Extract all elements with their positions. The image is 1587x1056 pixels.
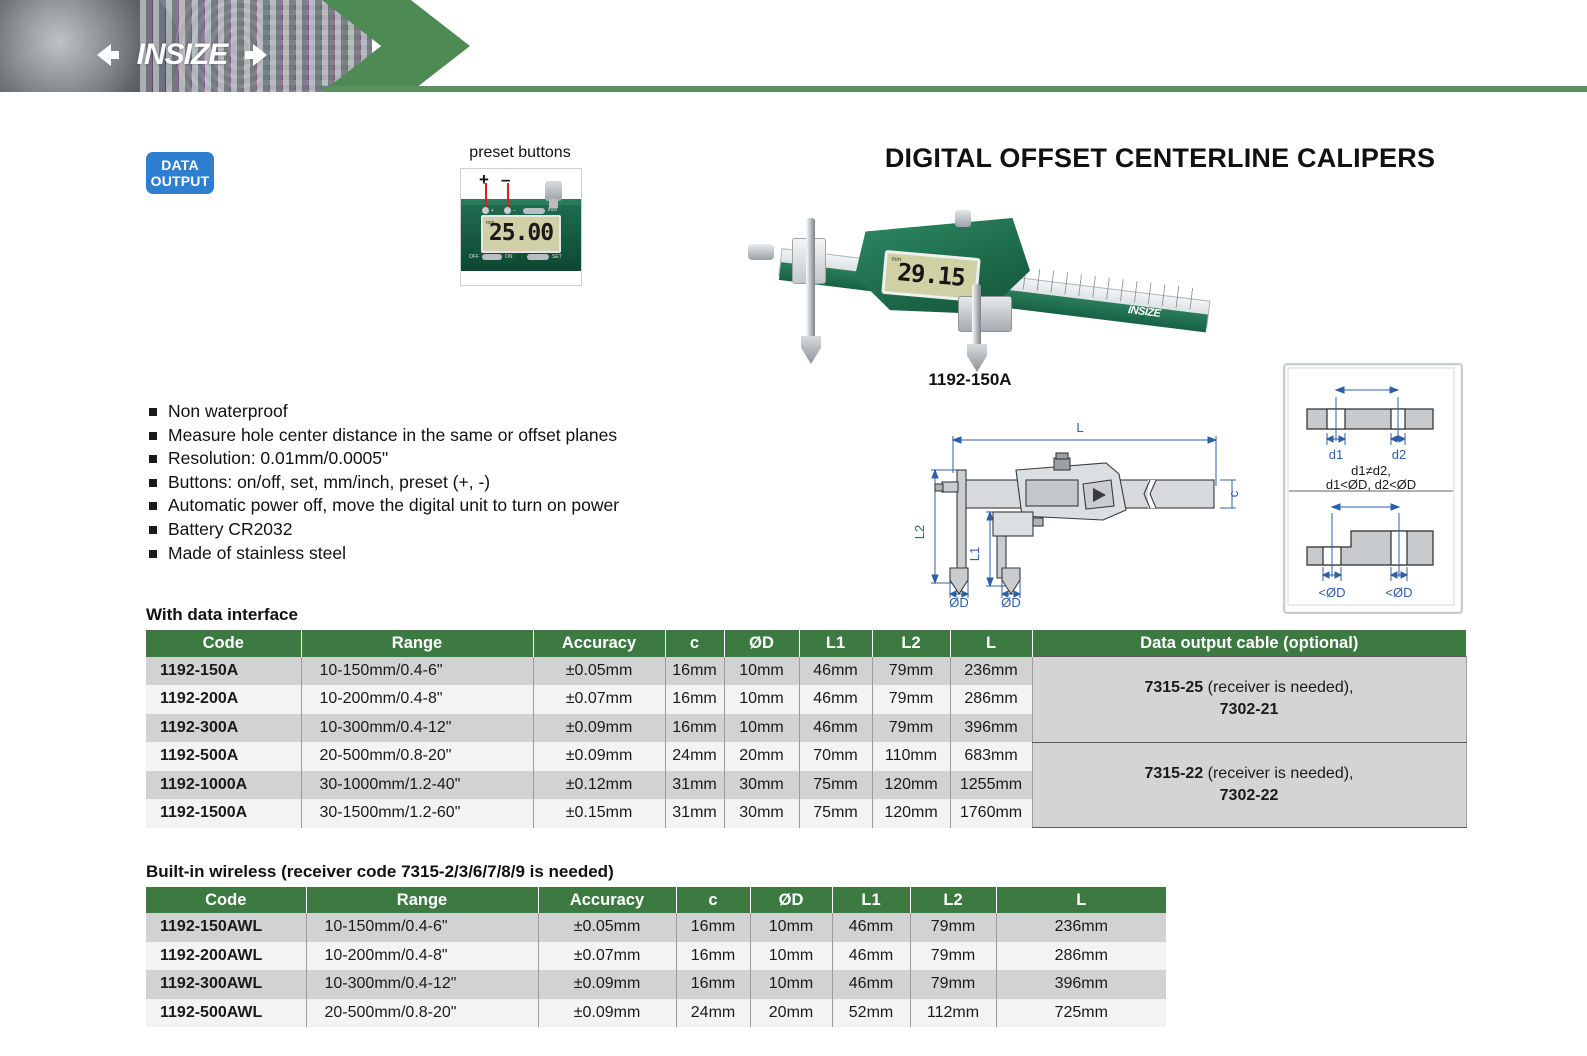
cell-od: 10mm [750, 970, 832, 999]
page-header: INSIZE [0, 0, 1587, 92]
cell-l1: 75mm [799, 799, 872, 828]
cell-l: 396mm [950, 714, 1032, 743]
caliper-head-screw [955, 210, 971, 227]
caliper-sliding-block [958, 296, 1012, 332]
cell-c: 16mm [676, 913, 750, 942]
cable-code-secondary: 7302-22 [1220, 787, 1279, 804]
dim-label-L2: L2 [912, 525, 927, 539]
cell-l1: 46mm [832, 970, 910, 999]
th-c: c [676, 887, 750, 913]
on-label: ON [505, 254, 513, 260]
note-line-1: d1≠d2, [1351, 463, 1391, 478]
cell-code: 1192-200A [146, 685, 301, 714]
preset-lcd-value: 25.00 [483, 218, 559, 249]
cell-l: 1255mm [950, 771, 1032, 800]
caliper-movable-cone-tip [967, 344, 987, 372]
cell-code: 1192-500AWL [146, 999, 306, 1028]
cell-code: 1192-300A [146, 714, 301, 743]
feature-item: Non waterproof [146, 400, 746, 424]
cell-l2: 79mm [872, 714, 950, 743]
th-range: Range [301, 630, 533, 657]
cell-range: 10-300mm/0.4-12" [301, 714, 533, 743]
table-row: 1192-150AWL 10-150mm/0.4-6" ±0.05mm 16mm… [146, 913, 1166, 942]
th-od: ØD [750, 887, 832, 913]
cell-accuracy: ±0.12mm [533, 771, 665, 800]
cell-od: 10mm [750, 942, 832, 971]
with-data-interface-table: Code Range Accuracy c ØD L1 L2 L Data ou… [146, 630, 1467, 828]
dim-label-L1: L1 [967, 547, 982, 561]
feature-item: Battery CR2032 [146, 518, 746, 542]
cell-l: 286mm [950, 685, 1032, 714]
cell-accuracy: ±0.05mm [533, 657, 665, 686]
cell-l2: 79mm [872, 657, 950, 686]
inch-label: inch [548, 207, 557, 213]
th-range: Range [306, 887, 538, 913]
cell-l1: 46mm [799, 685, 872, 714]
th-l1: L1 [832, 887, 910, 913]
caliper-fixed-cone-tip [801, 336, 821, 364]
cell-code: 1192-1000A [146, 771, 301, 800]
cell-range: 10-200mm/0.4-8" [306, 942, 538, 971]
cell-l2: 110mm [872, 742, 950, 771]
cell-l: 286mm [996, 942, 1166, 971]
cell-range: 10-150mm/0.4-6" [306, 913, 538, 942]
th-code: Code [146, 887, 306, 913]
preset-plus-button [482, 207, 489, 214]
cell-code: 1192-200AWL [146, 942, 306, 971]
preset-buttons-caption: preset buttons [458, 144, 582, 164]
cell-l2: 79mm [910, 970, 996, 999]
cell-range: 30-1000mm/1.2-40" [301, 771, 533, 800]
plus-sign-annotation: + [479, 173, 489, 187]
th-l2: L2 [910, 887, 996, 913]
feature-item: Made of stainless steel [146, 542, 746, 566]
cell-l: 683mm [950, 742, 1032, 771]
cell-od: 20mm [724, 742, 799, 771]
cell-l1: 70mm [799, 742, 872, 771]
insize-logo: INSIZE [97, 38, 267, 72]
cell-range: 10-300mm/0.4-12" [306, 970, 538, 999]
label-od-left: <ØD [1318, 585, 1345, 600]
cell-code: 1192-150A [146, 657, 301, 686]
cell-l1: 46mm [799, 657, 872, 686]
data-output-badge: DATA OUTPUT [146, 152, 214, 194]
badge-line-2: OUTPUT [151, 173, 210, 189]
preset-buttons-figure: preset buttons + – inch + – mm 25.00 OFF… [458, 144, 582, 286]
cell-l2: 79mm [910, 913, 996, 942]
th-od: ØD [724, 630, 799, 657]
header-green-rule [322, 86, 1587, 92]
cell-l1: 46mm [832, 942, 910, 971]
dim-label-od-left: ØD [949, 595, 969, 608]
cell-code: 1192-1500A [146, 799, 301, 828]
cell-c: 24mm [665, 742, 724, 771]
cell-accuracy: ±0.09mm [533, 742, 665, 771]
cell-accuracy: ±0.09mm [538, 999, 676, 1028]
mm-inch-button [523, 208, 545, 214]
th-data-output-cable: Data output cable (optional) [1032, 630, 1466, 657]
cell-l: 396mm [996, 970, 1166, 999]
cell-l1: 52mm [832, 999, 910, 1028]
caliper-thumb-screw [545, 181, 562, 201]
cell-l: 236mm [996, 913, 1166, 942]
onoff-button [482, 254, 502, 260]
th-accuracy: Accuracy [533, 630, 665, 657]
cell-c: 31mm [665, 799, 724, 828]
preset-buttons-photo: + – inch + – mm 25.00 OFF ON SET [460, 168, 582, 286]
set-label: SET [552, 254, 562, 260]
page-title: DIGITAL OFFSET CENTERLINE CALIPERS [840, 143, 1480, 174]
caliper-movable-rod [972, 284, 981, 346]
table1-caption: With data interface [146, 605, 298, 625]
cell-code: 1192-300AWL [146, 970, 306, 999]
cell-data-output-cable: 7315-25 (receiver is needed), 7302-21 [1032, 657, 1466, 743]
product-photo: INSIZE mm 29.15 [700, 196, 1260, 372]
cable-code-primary: 7315-25 [1144, 679, 1203, 696]
dim-label-od-right: ØD [1001, 595, 1021, 608]
cell-od: 10mm [724, 657, 799, 686]
cell-l: 236mm [950, 657, 1032, 686]
cell-accuracy: ±0.09mm [533, 714, 665, 743]
feature-item: Automatic power off, move the digital un… [146, 494, 746, 518]
feature-item: Resolution: 0.01mm/0.0005" [146, 447, 746, 471]
cell-od: 10mm [724, 714, 799, 743]
caliper-lcd-value: 29.15 [885, 255, 977, 295]
cell-c: 16mm [665, 685, 724, 714]
cell-range: 10-150mm/0.4-6" [301, 657, 533, 686]
feature-item: Buttons: on/off, set, mm/inch, preset (+… [146, 471, 746, 495]
th-l: L [996, 887, 1166, 913]
cell-range: 20-500mm/0.8-20" [301, 742, 533, 771]
th-c: c [665, 630, 724, 657]
cell-l: 1760mm [950, 799, 1032, 828]
plus-button-label: + [491, 208, 494, 214]
th-l1: L1 [799, 630, 872, 657]
table-row: 1192-500A 20-500mm/0.8-20" ±0.09mm 24mm … [146, 742, 1466, 771]
cell-od: 10mm [750, 913, 832, 942]
cell-l2: 120mm [872, 771, 950, 800]
cell-l2: 79mm [872, 685, 950, 714]
feature-list: Non waterproof Measure hole center dista… [146, 400, 746, 565]
cell-accuracy: ±0.07mm [538, 942, 676, 971]
cell-od: 20mm [750, 999, 832, 1028]
table2-caption: Built-in wireless (receiver code 7315-2/… [146, 862, 614, 882]
set-button [527, 254, 549, 260]
preset-lcd-screen: mm 25.00 [481, 215, 561, 253]
cell-range: 30-1500mm/1.2-60" [301, 799, 533, 828]
table1-header-row: Code Range Accuracy c ØD L1 L2 L Data ou… [146, 630, 1466, 657]
insize-logo-text: INSIZE [97, 38, 267, 72]
cell-l: 725mm [996, 999, 1166, 1028]
cell-accuracy: ±0.07mm [533, 685, 665, 714]
cell-l1: 46mm [799, 714, 872, 743]
feature-item: Measure hole center distance in the same… [146, 424, 746, 448]
note-line-2: d1<ØD, d2<ØD [1326, 477, 1416, 492]
cell-od: 30mm [724, 771, 799, 800]
built-in-wireless-table: Code Range Accuracy c ØD L1 L2 L 1192-15… [146, 887, 1166, 1027]
product-photo-caption: 1192-150A [840, 370, 1100, 390]
caliper-clamp-knob [748, 244, 774, 260]
cell-range: 10-200mm/0.4-8" [301, 685, 533, 714]
table-row: 1192-200AWL 10-200mm/0.4-8" ±0.07mm 16mm… [146, 942, 1166, 971]
caliper-fixed-rod [806, 218, 815, 338]
label-od-right: <ØD [1385, 585, 1412, 600]
cable-code-primary: 7315-22 [1144, 765, 1203, 782]
cell-l2: 112mm [910, 999, 996, 1028]
badge-line-1: DATA [161, 157, 199, 173]
th-code: Code [146, 630, 301, 657]
cell-c: 16mm [676, 970, 750, 999]
cell-l2: 79mm [910, 942, 996, 971]
table-row: 1192-300AWL 10-300mm/0.4-12" ±0.09mm 16m… [146, 970, 1166, 999]
cell-od: 10mm [724, 685, 799, 714]
application-diagram-box: d1 d2 d1≠d2, d1<ØD, d2<ØD <ØD <ØD [1283, 363, 1463, 614]
table-row: 1192-150A 10-150mm/0.4-6" ±0.05mm 16mm 1… [146, 657, 1466, 686]
cell-c: 16mm [665, 714, 724, 743]
caliper-lcd-screen: mm 29.15 [881, 250, 980, 302]
minus-button-label: – [513, 208, 516, 214]
table2-header-row: Code Range Accuracy c ØD L1 L2 L [146, 887, 1166, 913]
off-label: OFF [469, 254, 479, 260]
dimension-drawing: L L2 L1 c ØD ØD [898, 408, 1243, 608]
cell-l1: 75mm [799, 771, 872, 800]
cell-l2: 120mm [872, 799, 950, 828]
cable-code-secondary: 7302-21 [1220, 701, 1279, 718]
cell-c: 16mm [676, 942, 750, 971]
label-d2: d2 [1392, 447, 1406, 462]
cell-code: 1192-150AWL [146, 913, 306, 942]
cell-c: 24mm [676, 999, 750, 1028]
dim-label-c: c [1226, 490, 1241, 497]
preset-minus-button [504, 207, 511, 214]
cell-accuracy: ±0.09mm [538, 970, 676, 999]
th-l: L [950, 630, 1032, 657]
cable-note: (receiver is needed), [1203, 679, 1353, 696]
cell-range: 20-500mm/0.8-20" [306, 999, 538, 1028]
cable-note: (receiver is needed), [1203, 765, 1353, 782]
cell-c: 16mm [665, 657, 724, 686]
cell-accuracy: ±0.15mm [533, 799, 665, 828]
label-d1: d1 [1329, 447, 1343, 462]
cell-data-output-cable: 7315-22 (receiver is needed), 7302-22 [1032, 742, 1466, 828]
th-accuracy: Accuracy [538, 887, 676, 913]
th-l2: L2 [872, 630, 950, 657]
minus-sign-annotation: – [501, 173, 510, 187]
cell-od: 30mm [724, 799, 799, 828]
cell-c: 31mm [665, 771, 724, 800]
cell-code: 1192-500A [146, 742, 301, 771]
table-row: 1192-500AWL 20-500mm/0.8-20" ±0.09mm 24m… [146, 999, 1166, 1028]
dim-label-L: L [1076, 420, 1083, 435]
cell-l1: 46mm [832, 913, 910, 942]
cell-accuracy: ±0.05mm [538, 913, 676, 942]
